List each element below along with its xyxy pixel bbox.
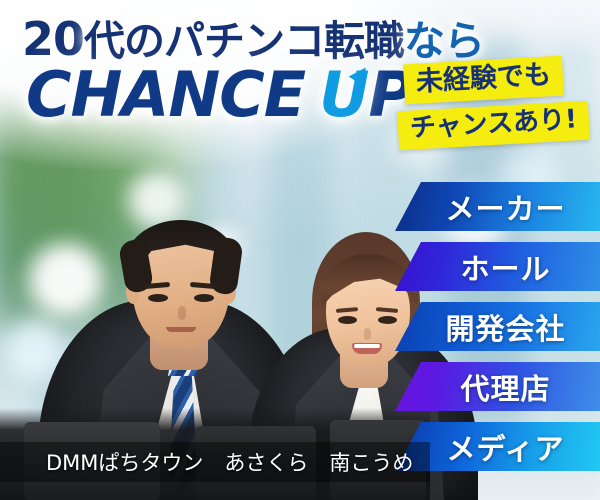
category-button-hall[interactable]: ホール	[395, 242, 600, 291]
logo-word-chance: CHANCE	[26, 58, 305, 131]
category-button-development-company[interactable]: 開発会社	[395, 302, 600, 351]
category-button-maker[interactable]: メーカー	[395, 182, 600, 231]
man-eye-right	[194, 294, 214, 302]
man-eye-left	[148, 294, 168, 302]
man-nose	[178, 306, 186, 320]
category-label-development-company: 開発会社	[445, 306, 565, 348]
woman-teeth	[354, 344, 380, 348]
woman-eye-left	[338, 316, 357, 324]
caption-text: DMMぱちタウン あさくら 南こうめ	[46, 447, 413, 477]
category-label-hall: ホール	[460, 246, 550, 288]
category-label-maker: メーカー	[445, 186, 565, 228]
logo-letter-u: U	[319, 64, 368, 126]
category-button-agency[interactable]: 代理店	[395, 362, 600, 411]
woman-nose	[364, 328, 371, 340]
caption-bar: DMMぱちタウン あさくら 南こうめ	[0, 442, 430, 482]
headline-suffix: なら	[404, 17, 484, 65]
category-label-media: メディア	[447, 426, 565, 468]
chance-up-logo: CHANCEUP	[26, 64, 413, 126]
category-button-list: メーカー ホール 開発会社 代理店 メディア	[395, 182, 600, 482]
page-title: 20代のパチンコ転職なら	[22, 16, 484, 62]
advertisement-banner[interactable]: 20代のパチンコ転職なら CHANCEUP 未経験でも チャンスあり! メーカー…	[0, 0, 600, 500]
category-label-agency: 代理店	[460, 366, 550, 408]
man-mouth	[166, 327, 196, 332]
